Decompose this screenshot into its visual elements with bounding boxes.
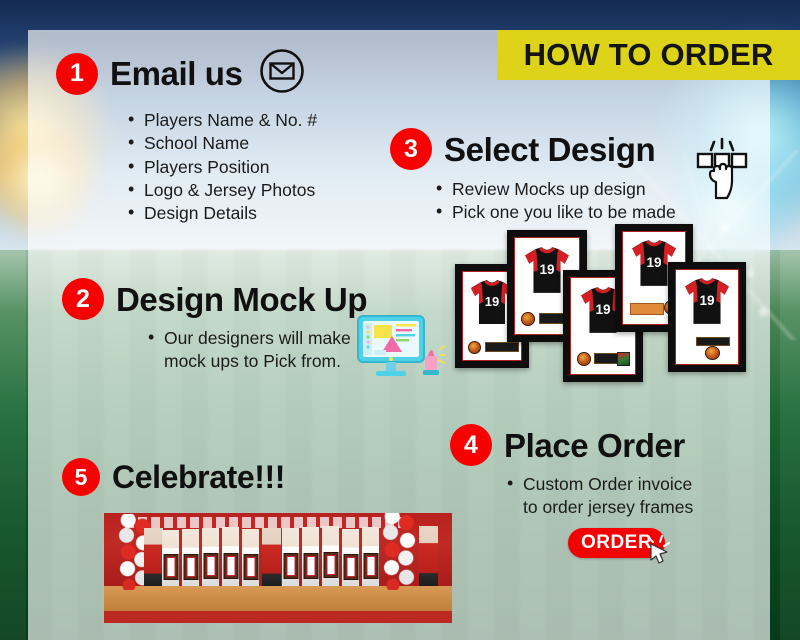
banner-title: HOW TO ORDER: [524, 37, 774, 73]
step-2-header: 2 Design Mock Up: [62, 278, 367, 320]
click-cursor-icon: [645, 534, 675, 569]
jersey-frame-5: 19: [668, 262, 746, 372]
click-select-icon: [690, 136, 754, 207]
team-member: [162, 530, 179, 586]
list-item: Design Details: [128, 202, 317, 225]
step-5-header: 5 Celebrate!!!: [62, 458, 285, 496]
step-4-place-order: 4 Place Order Custom Order invoice to or…: [450, 424, 693, 520]
list-item: School Name: [128, 132, 317, 155]
step-1-email-us: 1 Email us Players Name & No. # School N…: [56, 48, 317, 225]
list-item: Our designers will make: [148, 327, 367, 350]
step-2-design-mock-up: 2 Design Mock Up Our designers will make…: [62, 278, 367, 374]
step-2-number-badge: 2: [62, 278, 104, 320]
framed-jersey-held: [283, 553, 298, 579]
step-3-number-badge: 3: [390, 128, 432, 170]
framed-jersey-held: [163, 554, 178, 580]
step-5-number-badge: 5: [62, 458, 100, 496]
order-button-label: ORDER: [581, 532, 652, 554]
coach-left: [144, 528, 163, 586]
step-1-header: 1 Email us: [56, 48, 317, 99]
step-4-number-badge: 4: [450, 424, 492, 466]
team-logo-patch: [468, 341, 481, 354]
design-monitor-illustration: [352, 312, 448, 391]
jersey-graphic: 19: [680, 276, 734, 326]
framed-jersey-held: [323, 552, 338, 578]
step-1-number-badge: 1: [56, 53, 98, 95]
step-5-title: Celebrate!!!: [112, 461, 285, 493]
step-2-bullet-list: Our designers will make mock ups to Pick…: [148, 327, 367, 374]
team-member: [342, 529, 359, 586]
svg-text:19: 19: [646, 255, 662, 270]
step-3-select-design: 3 Select Design Review Mocks up design P…: [390, 128, 676, 225]
step-5-celebrate: 5 Celebrate!!!: [62, 458, 285, 496]
team-member: [202, 528, 219, 586]
team-logo-patch: [521, 312, 535, 326]
team-member: [282, 528, 299, 586]
framed-jersey-held: [303, 553, 318, 579]
list-item: Custom Order invoice: [507, 473, 693, 496]
step-1-title: Email us: [110, 57, 243, 90]
step-3-header: 3 Select Design: [390, 128, 676, 170]
balloon-column-right: [382, 513, 416, 590]
team-photo: [104, 513, 452, 623]
svg-text:19: 19: [539, 262, 555, 277]
team-member: [362, 527, 379, 586]
framed-jersey-held: [203, 553, 218, 579]
jersey-frames-collage: 19 19: [455, 222, 800, 382]
team-member: [242, 529, 259, 586]
list-item: Players Position: [128, 156, 317, 179]
team-member: [182, 529, 199, 586]
list-item: Logo & Jersey Photos: [128, 179, 317, 202]
nameplate: [630, 303, 664, 315]
coach-right: [419, 526, 438, 586]
step-2-title: Design Mock Up: [116, 283, 367, 316]
list-item: Review Mocks up design: [436, 178, 676, 201]
svg-text:19: 19: [595, 302, 611, 317]
step-4-title: Place Order: [504, 429, 685, 462]
team-logo-patch: [705, 346, 720, 360]
coach-middle: [262, 528, 281, 586]
list-item-continuation: mock ups to Pick from.: [148, 350, 367, 373]
envelope-icon: [259, 48, 305, 99]
team-member: [322, 526, 339, 586]
nameplate: [696, 337, 730, 346]
list-item: Players Name & No. #: [128, 109, 317, 132]
nameplate: [485, 342, 519, 352]
framed-jersey-held: [363, 553, 378, 579]
mini-photo-insert: [617, 352, 630, 366]
step-4-header: 4 Place Order: [450, 424, 693, 466]
step-3-title: Select Design: [444, 133, 655, 166]
infographic-canvas: HOW TO ORDER 1 Email us Players Name & N…: [0, 0, 800, 640]
team-logo-patch: [577, 352, 591, 366]
svg-text:19: 19: [699, 293, 715, 308]
framed-jersey-held: [243, 554, 258, 580]
gym-floor-stripe: [104, 611, 452, 623]
framed-jersey-held: [223, 553, 238, 579]
step-1-bullet-list: Players Name & No. # School Name Players…: [128, 109, 317, 225]
team-member: [222, 527, 239, 586]
framed-jersey-held: [183, 554, 198, 580]
framed-jersey-held: [343, 554, 358, 580]
team-member: [302, 527, 319, 586]
step-3-bullet-list: Review Mocks up design Pick one you like…: [436, 178, 676, 225]
list-item-continuation: to order jersey frames: [507, 496, 693, 519]
step-4-bullet-list: Custom Order invoice to order jersey fra…: [507, 473, 693, 520]
svg-text:19: 19: [485, 294, 499, 309]
frame-mat: 19: [675, 269, 739, 365]
how-to-order-banner: HOW TO ORDER: [497, 30, 800, 80]
